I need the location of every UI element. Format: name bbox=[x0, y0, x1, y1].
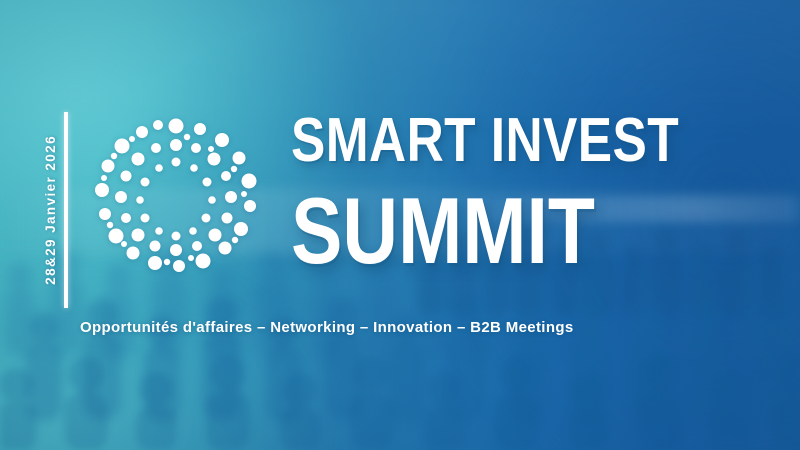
event-title: SMART INVEST SUMMIT bbox=[291, 110, 761, 278]
dotted-circle-logo bbox=[88, 112, 264, 288]
title-line-summit: SUMMIT bbox=[291, 184, 676, 278]
vertical-divider bbox=[64, 112, 68, 308]
event-dates-text: 28&29 Janvier 2026 bbox=[43, 135, 58, 285]
event-tagline: Opportunités d'affaires – Networking – I… bbox=[80, 319, 574, 336]
event-banner: 28&29 Janvier 2026 bbox=[0, 0, 800, 450]
title-line-smart-invest: SMART INVEST bbox=[291, 110, 681, 172]
